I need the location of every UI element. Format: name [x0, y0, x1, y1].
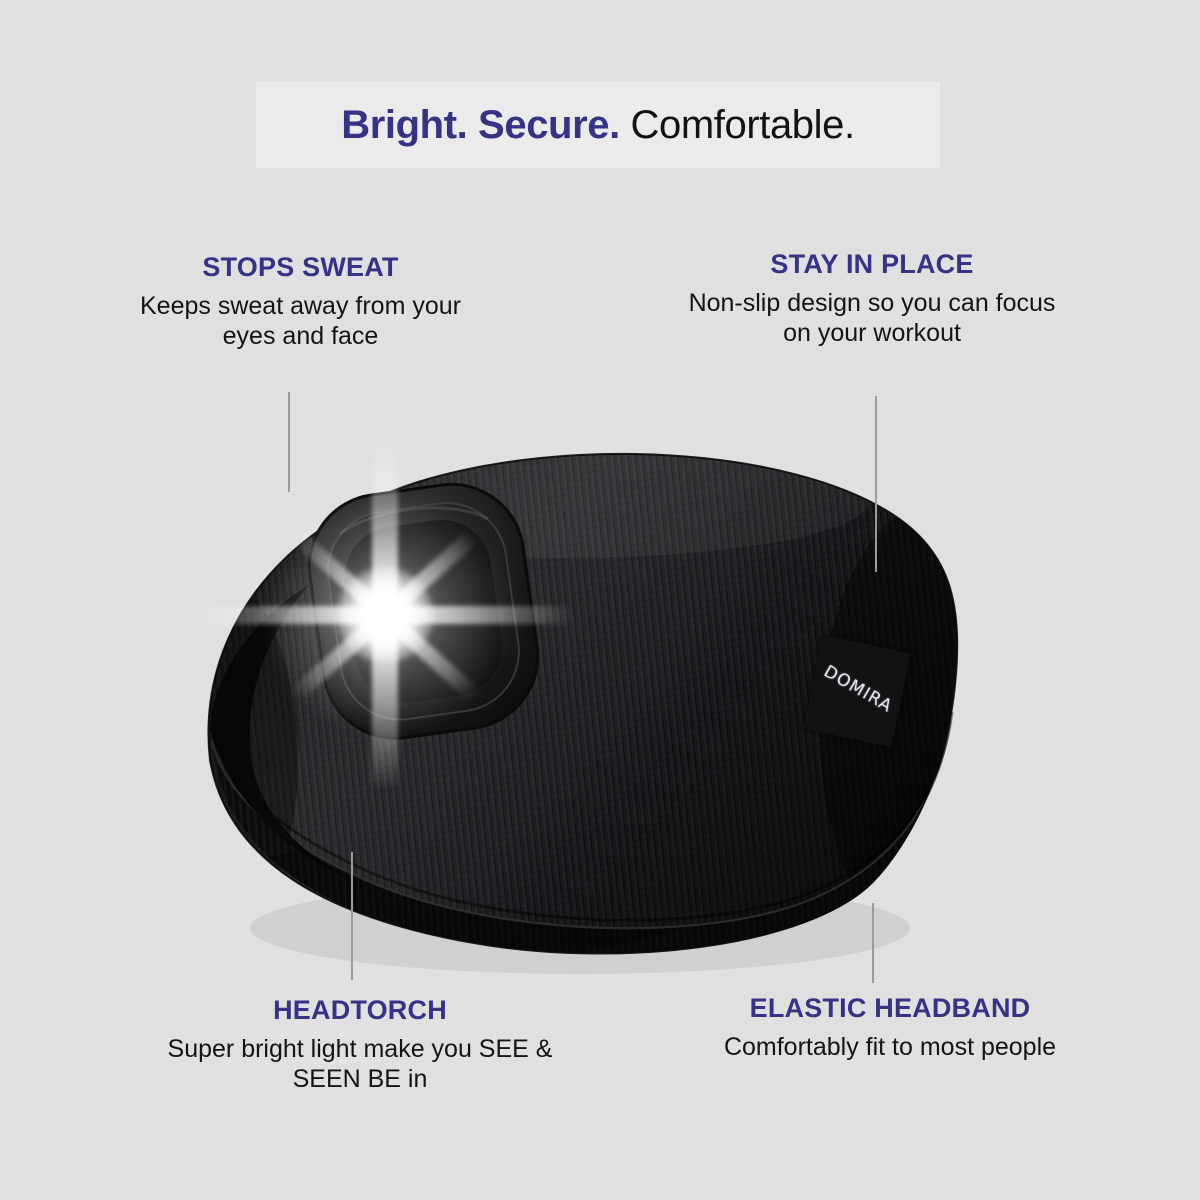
- feature-desc-stops-sweat: Keeps sweat away from your eyes and face: [118, 291, 483, 352]
- feature-title-headtorch: HEADTORCH: [160, 996, 560, 1026]
- feature-callout-elastic-headband: ELASTIC HEADBAND Comfortably fit to most…: [690, 994, 1090, 1062]
- headline-plain-text: Comfortable.: [631, 103, 855, 147]
- led-light-module: [300, 475, 547, 748]
- leader-line-elastic-headband: [872, 903, 874, 983]
- feature-title-stay-in-place: STAY IN PLACE: [672, 250, 1072, 280]
- page-title: Bright. Secure. Comfortable.: [341, 105, 854, 145]
- feature-title-stops-sweat: STOPS SWEAT: [118, 253, 483, 283]
- headband-body: [118, 430, 1060, 990]
- brand-tag-label: DOMIRA: [820, 662, 896, 717]
- feature-callout-headtorch: HEADTORCH Super bright light make you SE…: [160, 996, 560, 1095]
- headline-accent-text: Bright. Secure.: [341, 103, 620, 147]
- feature-callout-stops-sweat: STOPS SWEAT Keeps sweat away from your e…: [118, 253, 483, 352]
- leader-line-stops-sweat: [288, 392, 290, 492]
- feature-callout-stay-in-place: STAY IN PLACE Non-slip design so you can…: [672, 250, 1072, 349]
- feature-desc-headtorch: Super bright light make you SEE & SEEN B…: [160, 1034, 560, 1095]
- headline-banner: Bright. Secure. Comfortable.: [256, 82, 940, 168]
- feature-desc-stay-in-place: Non-slip design so you can focus on your…: [672, 288, 1072, 349]
- feature-title-elastic-headband: ELASTIC HEADBAND: [690, 994, 1090, 1024]
- infographic-canvas: Bright. Secure. Comfortable.: [0, 0, 1200, 1200]
- leader-line-stay-in-place: [875, 396, 877, 572]
- leader-line-headtorch: [351, 852, 353, 980]
- feature-desc-elastic-headband: Comfortably fit to most people: [690, 1032, 1090, 1063]
- product-image-led-headband: DOMIRA: [150, 430, 980, 990]
